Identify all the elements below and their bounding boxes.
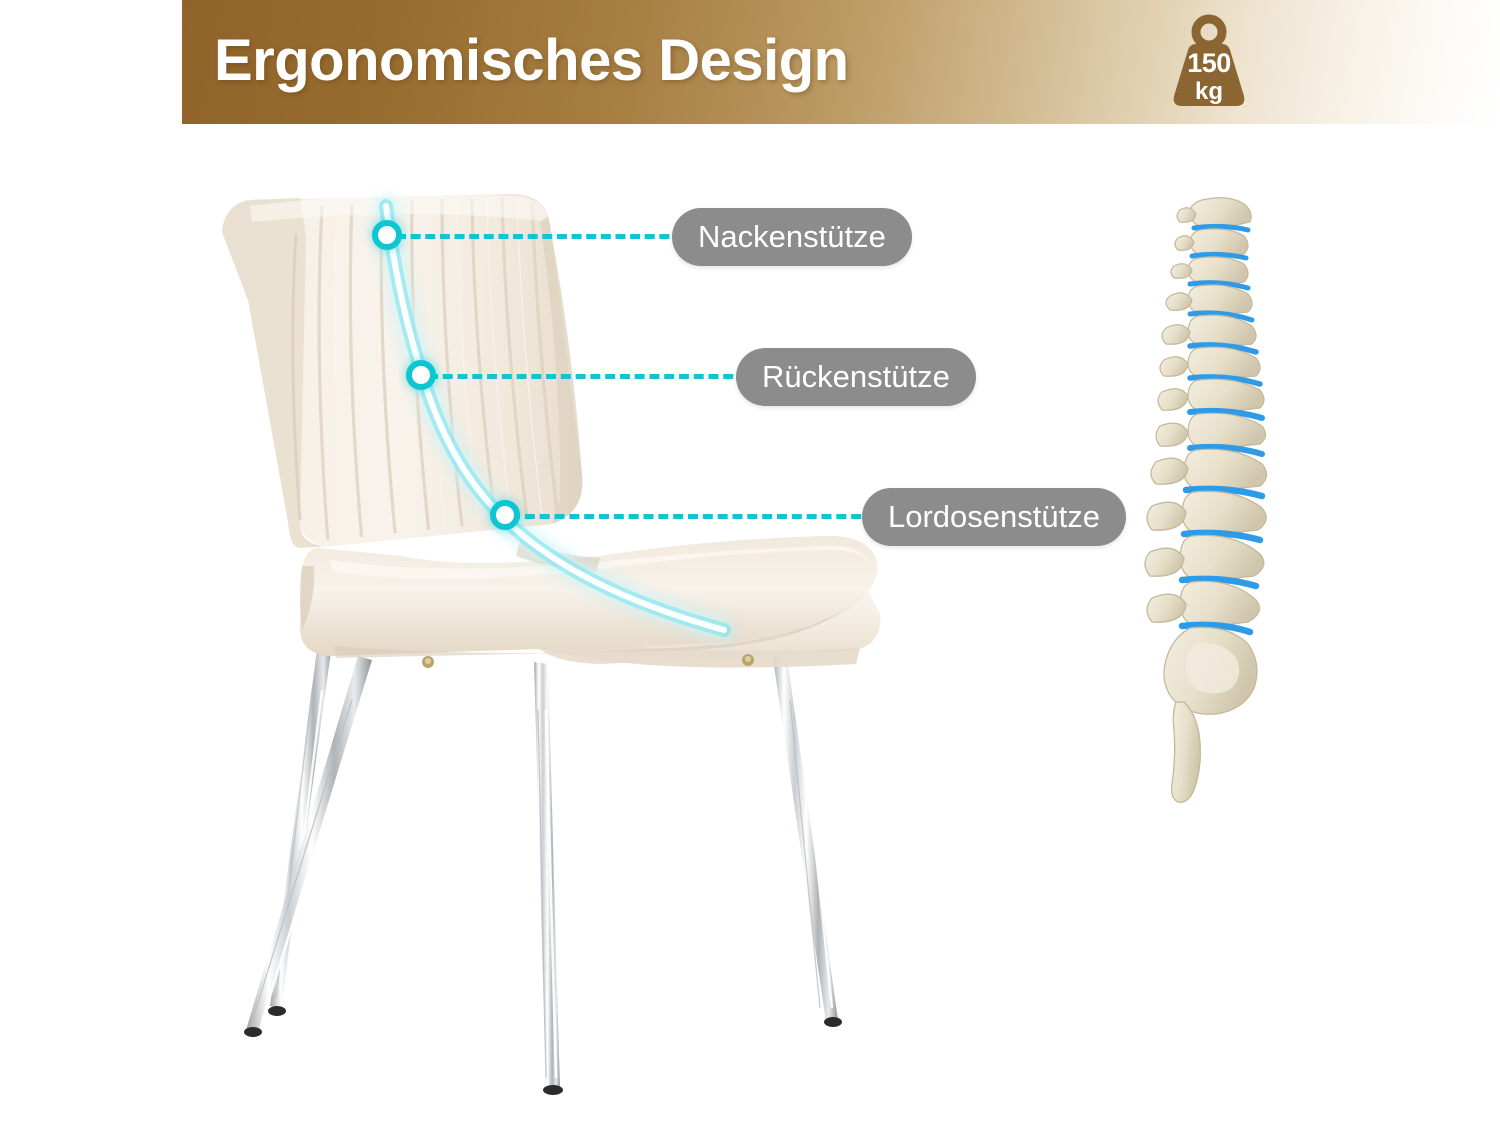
weight-capacity-badge: 150 kg [1166, 14, 1252, 110]
chair-leg-rear-left [268, 642, 332, 1016]
vertebra [1162, 315, 1256, 348]
marker-dot-lumbar[interactable] [490, 500, 520, 530]
vertebra [1175, 229, 1248, 258]
leg-screw [422, 656, 434, 668]
page-title: Ergonomisches Design [214, 26, 849, 96]
leader-line-neck [396, 234, 684, 239]
chair-leg-front-right [534, 662, 563, 1095]
chair-illustration [222, 194, 880, 1095]
marker-dot-neck[interactable] [372, 220, 402, 250]
weight-unit: kg [1166, 80, 1252, 104]
chair-armrest [300, 536, 877, 656]
illustration-layer [0, 0, 1500, 1125]
leader-line-lumbar [510, 514, 876, 519]
vertebra-lumbar [1147, 491, 1266, 536]
backrest-left-wing [222, 198, 330, 548]
chair-leg-rear-right [772, 650, 842, 1027]
marker-dot-back[interactable] [406, 360, 436, 390]
vertebra-lumbar [1147, 581, 1260, 628]
chair-seat [520, 556, 880, 664]
vertebra-lumbar [1151, 449, 1267, 492]
vertebra [1160, 347, 1260, 380]
vertebra [1158, 379, 1264, 414]
chair-backrest [222, 194, 582, 546]
coccyx [1172, 702, 1201, 802]
callout-label-back[interactable]: Rückenstütze [736, 348, 976, 406]
chair-leg-front-left [244, 656, 372, 1037]
vertebra [1156, 413, 1266, 450]
sacrum [1164, 627, 1257, 714]
callout-label-neck[interactable]: Nackenstütze [672, 208, 912, 266]
leg-screw [742, 654, 754, 666]
vertebra [1171, 257, 1248, 286]
vertebra [1166, 285, 1252, 316]
infographic-canvas: Ergonomisches Design 150 kg [0, 0, 1500, 1125]
spine-illustration [1145, 198, 1267, 803]
vertebra [1177, 198, 1251, 230]
vertebra-lumbar [1145, 535, 1264, 582]
backrest-channel-stitching [319, 197, 560, 542]
weight-value: 150 [1166, 50, 1252, 77]
callout-label-lumbar[interactable]: Lordosenstütze [862, 488, 1126, 546]
ergonomic-spine-curve [386, 206, 724, 630]
leader-line-back [428, 374, 748, 379]
